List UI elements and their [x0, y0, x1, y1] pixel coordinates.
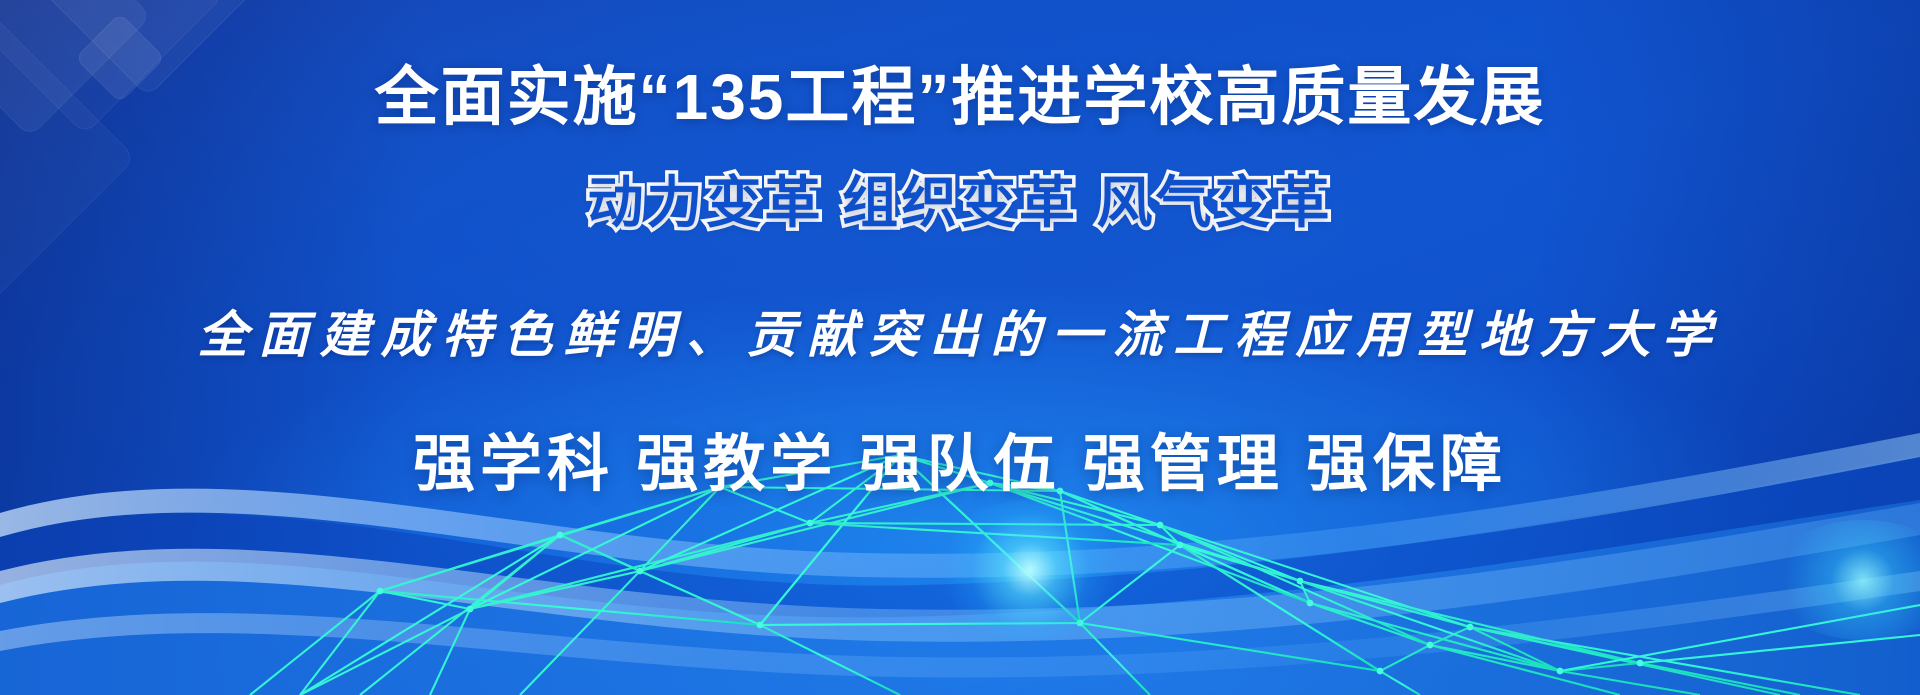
- banner-headline: 全面实施“135工程”推进学校高质量发展: [375, 46, 1546, 138]
- banner-text-block: 全面实施“135工程”推进学校高质量发展 动力变革 组织变革 风气变革 全面建成…: [0, 0, 1920, 695]
- banner-vision-statement: 全面建成特色鲜明、贡献突出的一流工程应用型地方大学: [198, 295, 1723, 367]
- banner-pillars: 强学科 强教学 强队伍 强管理 强保障: [413, 413, 1507, 503]
- banner-subheadline: 动力变革 组织变革 风气变革: [587, 158, 1332, 239]
- banner-root: 全面实施“135工程”推进学校高质量发展 动力变革 组织变革 风气变革 全面建成…: [0, 0, 1920, 695]
